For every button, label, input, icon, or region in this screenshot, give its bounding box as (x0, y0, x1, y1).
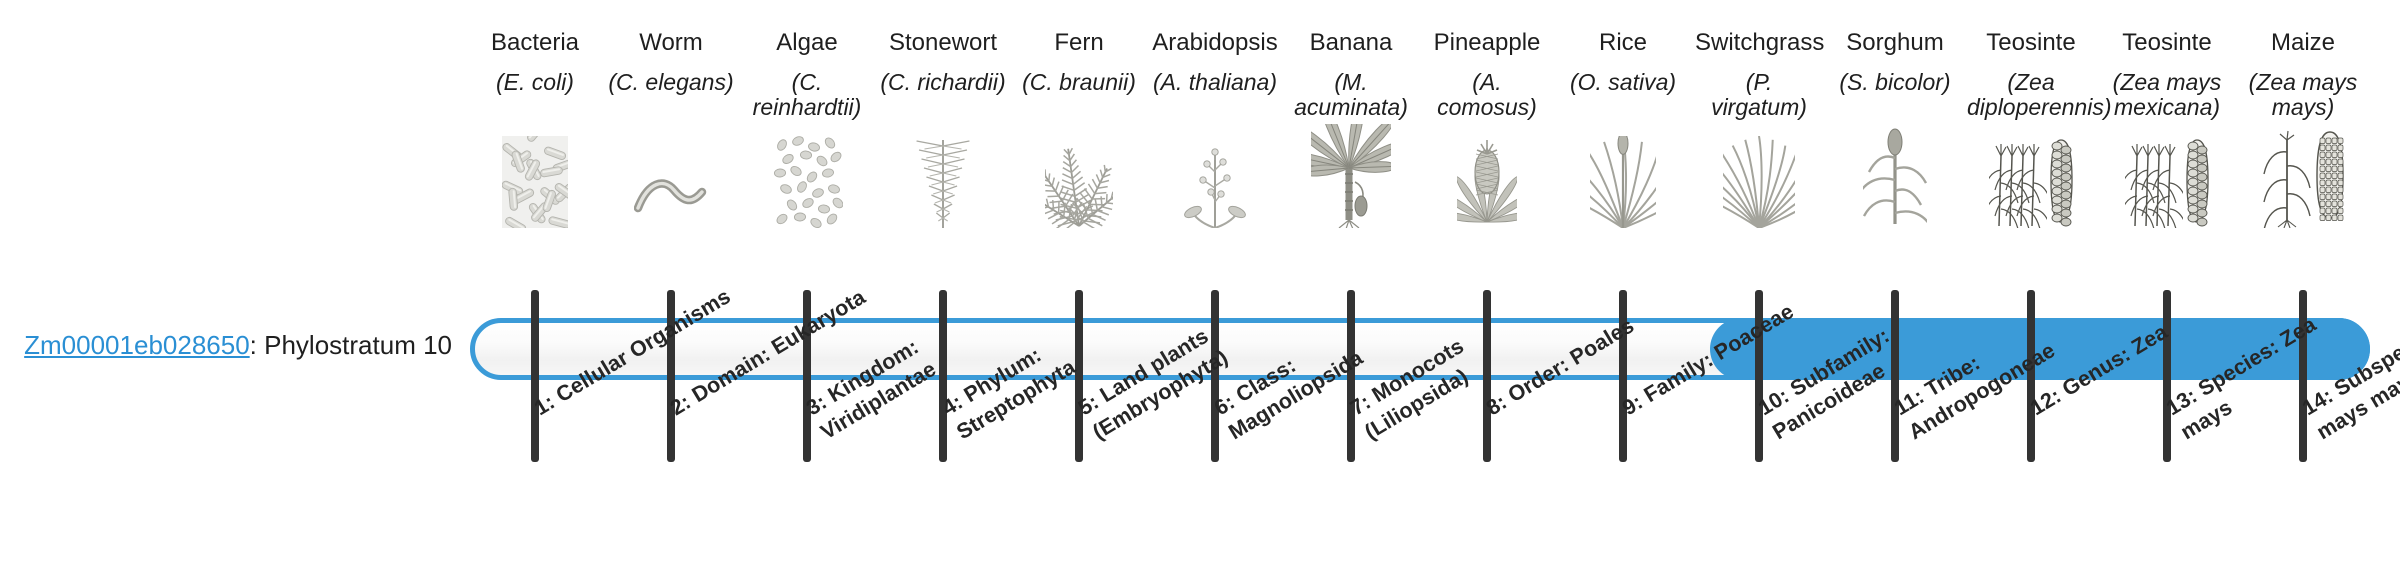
species-column-sorghum-11: Sorghum(S. bicolor) (1831, 30, 1959, 228)
stonewort-plant-icon (879, 128, 1007, 228)
species-column-arabidopsis-6: Arabidopsis(A. thaliana) (1151, 30, 1279, 228)
banana-tree-icon (1287, 128, 1415, 228)
species-latin-name: (A. thaliana) (1151, 70, 1279, 126)
species-common-name: Algae (743, 30, 871, 57)
arabidopsis-plant-icon (1151, 128, 1279, 228)
gene-label-separator: : (250, 330, 264, 360)
bacteria-rods-icon (471, 128, 599, 228)
switchgrass-icon (1695, 128, 1823, 228)
species-latin-name: (P. virgatum) (1695, 70, 1823, 126)
species-latin-name: (E. coli) (471, 70, 599, 126)
sorghum-plant-icon (1831, 128, 1959, 228)
species-common-name: Maize (2239, 30, 2367, 57)
species-column-fern-5: Fern(C. braunii) (1015, 30, 1143, 228)
species-column-switchgrass-10: Switchgrass(P. virgatum) (1695, 30, 1823, 228)
teosinte-plant-ear-icon (2103, 128, 2231, 228)
species-latin-name: (A. comosus) (1423, 70, 1551, 126)
species-column-maize-14: Maize(Zea mays mays) (2239, 30, 2367, 228)
phylostratum-diagram: Zm00001eb028650: Phylostratum 10 Bacteri… (0, 0, 2400, 580)
species-latin-name: (M. acuminata) (1287, 70, 1415, 126)
gene-id-link[interactable]: Zm00001eb028650 (24, 330, 250, 360)
species-latin-name: (C. braunii) (1015, 70, 1143, 126)
maize-plant-cob-icon (2239, 128, 2367, 228)
species-common-name: Switchgrass (1695, 30, 1823, 57)
species-common-name: Teosinte (2103, 30, 2231, 57)
species-common-name: Teosinte (1967, 30, 2095, 57)
species-column-pineapple-8: Pineapple(A. comosus) (1423, 30, 1551, 228)
species-column-banana-7: Banana(M. acuminata) (1287, 30, 1415, 228)
species-common-name: Worm (607, 30, 735, 57)
species-common-name: Fern (1015, 30, 1143, 57)
teosinte-plant-ear-icon (1967, 128, 2095, 228)
species-column-teosinte-13: Teosinte(Zea mays mexicana) (2103, 30, 2231, 228)
species-column-bacteria-1: Bacteria(E. coli) (471, 30, 599, 228)
species-common-name: Rice (1559, 30, 1687, 57)
species-column-rice-9: Rice(O. sativa) (1559, 30, 1687, 228)
species-common-name: Sorghum (1831, 30, 1959, 57)
species-common-name: Stonewort (879, 30, 1007, 57)
fern-frond-icon (1015, 128, 1143, 228)
species-column-stonewort-4: Stonewort(C. richardii) (879, 30, 1007, 228)
phylostratum-value-text: Phylostratum 10 (264, 330, 452, 360)
species-latin-name: (C. reinhardtii) (743, 70, 871, 126)
species-column-algae-3: Algae(C. reinhardtii) (743, 30, 871, 228)
rice-grass-icon (1559, 128, 1687, 228)
species-common-name: Banana (1287, 30, 1415, 57)
species-latin-name: (C. richardii) (879, 70, 1007, 126)
species-column-teosinte-12: Teosinte(Zea diploperennis) (1967, 30, 2095, 228)
species-common-name: Pineapple (1423, 30, 1551, 57)
species-latin-name: (Zea mays mays) (2239, 70, 2367, 126)
tick-mark-1[interactable] (531, 290, 539, 462)
species-latin-name: (S. bicolor) (1831, 70, 1959, 126)
species-latin-name: (Zea mays mexicana) (2103, 70, 2231, 126)
nematode-worm-icon (607, 128, 735, 228)
algae-cells-icon (743, 128, 871, 228)
species-latin-name: (O. sativa) (1559, 70, 1687, 126)
species-column-worm-2: Worm(C. elegans) (607, 30, 735, 228)
species-latin-name: (C. elegans) (607, 70, 735, 126)
gene-phylostratum-label: Zm00001eb028650: Phylostratum 10 (0, 330, 452, 361)
species-common-name: Bacteria (471, 30, 599, 57)
pineapple-plant-icon (1423, 128, 1551, 228)
species-latin-name: (Zea diploperennis) (1967, 70, 2095, 126)
species-common-name: Arabidopsis (1151, 30, 1279, 57)
